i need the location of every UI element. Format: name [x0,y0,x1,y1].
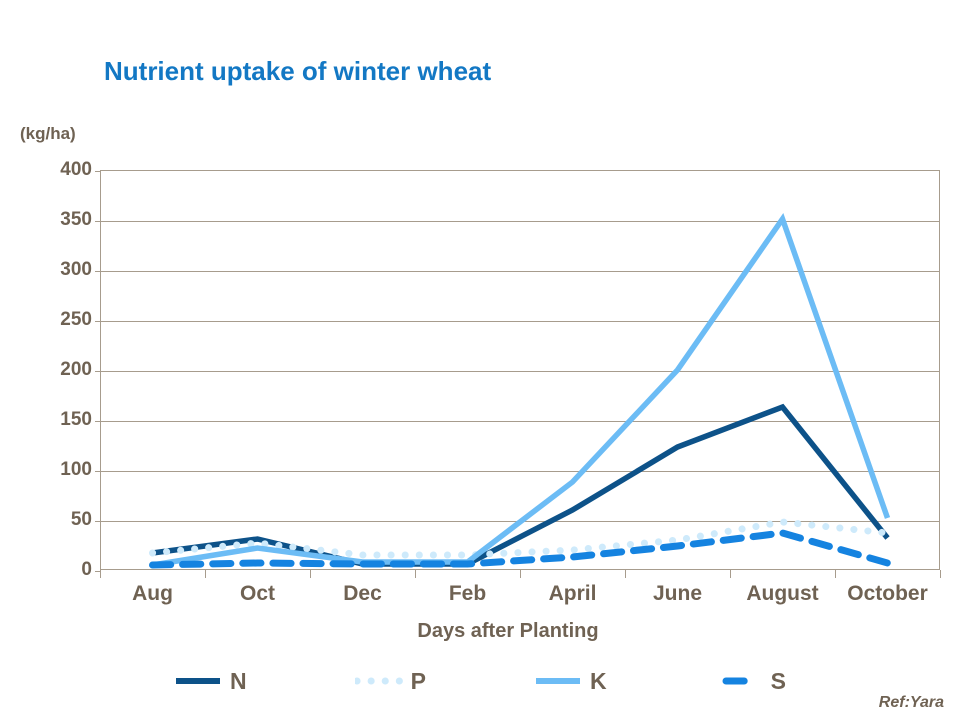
x-axis-tick-label: June [653,582,702,606]
x-axis-tick-label: Dec [343,582,382,606]
x-axis-tick [730,570,731,578]
x-axis-ticks [100,570,940,580]
x-axis-tick [100,570,101,578]
legend-item-k[interactable]: K [534,668,607,695]
x-axis-tick-label: August [746,582,818,606]
gridline [101,321,939,322]
legend-swatch-s-icon [715,673,763,689]
gridline [101,371,939,372]
reference-note: Ref:Yara [879,694,944,712]
y-axis-tick [95,371,101,372]
chart-title: Nutrient uptake of winter wheat [104,56,491,87]
y-axis-tick-label: 200 [12,359,92,381]
y-axis-tick-label: 100 [12,459,92,481]
x-axis-tick-labels: AugOctDecFebAprilJuneAugustOctober [100,582,940,612]
legend-item-s[interactable]: S [715,668,786,695]
y-axis-tick-label: 350 [12,209,92,231]
x-axis-tick [310,570,311,578]
x-axis-tick [625,570,626,578]
x-axis-tick-label: October [847,582,928,606]
y-axis-unit-label: (kg/ha) [20,124,76,144]
legend-label: K [590,668,607,695]
x-axis-tick-label: April [549,582,597,606]
x-axis-tick-label: Oct [240,582,275,606]
y-axis-tick [95,221,101,222]
legend-item-p[interactable]: P [355,668,426,695]
gridline [101,271,939,272]
y-axis-tick-label: 300 [12,259,92,281]
y-axis-tick [95,421,101,422]
y-axis-tick [95,471,101,472]
legend-swatch-n-icon [174,673,222,689]
legend-swatch-p-icon [355,673,403,689]
chart-container: Nutrient uptake of winter wheat (kg/ha) … [0,0,960,720]
y-axis-tick-labels: 400350300250200150100500 [8,170,92,570]
x-axis-tick [205,570,206,578]
gridline [101,521,939,522]
y-axis-tick [95,171,101,172]
y-axis-tick-label: 50 [12,509,92,531]
gridline [101,471,939,472]
gridline [101,421,939,422]
x-axis-title: Days after Planting [0,620,960,643]
x-axis-tick [835,570,836,578]
x-axis-tick-label: Aug [132,582,173,606]
legend-swatch-k-icon [534,673,582,689]
y-axis-tick-label: 150 [12,409,92,431]
legend-label: S [771,668,786,695]
x-axis-tick-label: Feb [449,582,486,606]
legend-label: N [230,668,247,695]
legend-item-n[interactable]: N [174,668,247,695]
x-axis-tick [940,570,941,578]
plot-area [100,170,940,570]
y-axis-tick [95,271,101,272]
y-axis-tick-label: 400 [12,159,92,181]
x-axis-title-text: Days after Planting [361,620,598,642]
x-axis-tick [520,570,521,578]
legend-label: P [411,668,426,695]
y-axis-tick-label: 250 [12,309,92,331]
y-axis-tick [95,521,101,522]
y-axis-tick [95,321,101,322]
x-axis-tick [415,570,416,578]
y-axis-tick-label: 0 [12,559,92,581]
gridline [101,221,939,222]
chart-legend: NPKS [0,664,960,698]
